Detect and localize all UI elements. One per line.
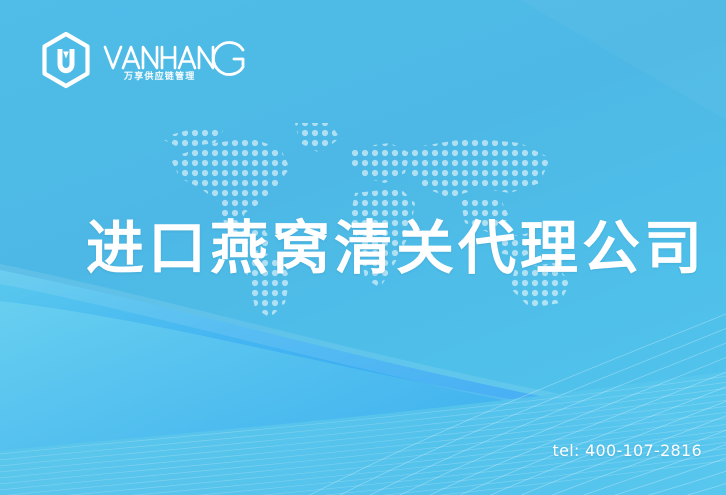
contact-phone: tel: 400-107-2816: [553, 441, 702, 460]
logo-subtitle: 万享供应链管理: [124, 69, 195, 82]
logo-text-block: 万享供应链管理: [102, 34, 252, 86]
brand-logo[interactable]: 万享供应链管理: [38, 31, 252, 89]
hexagon-u-mark-icon: [38, 31, 94, 89]
page-title: 进口燕窝清关代理公司: [86, 214, 706, 282]
promo-banner: 万享供应链管理 进口燕窝清关代理公司 tel: 400-107-2816: [0, 0, 726, 495]
